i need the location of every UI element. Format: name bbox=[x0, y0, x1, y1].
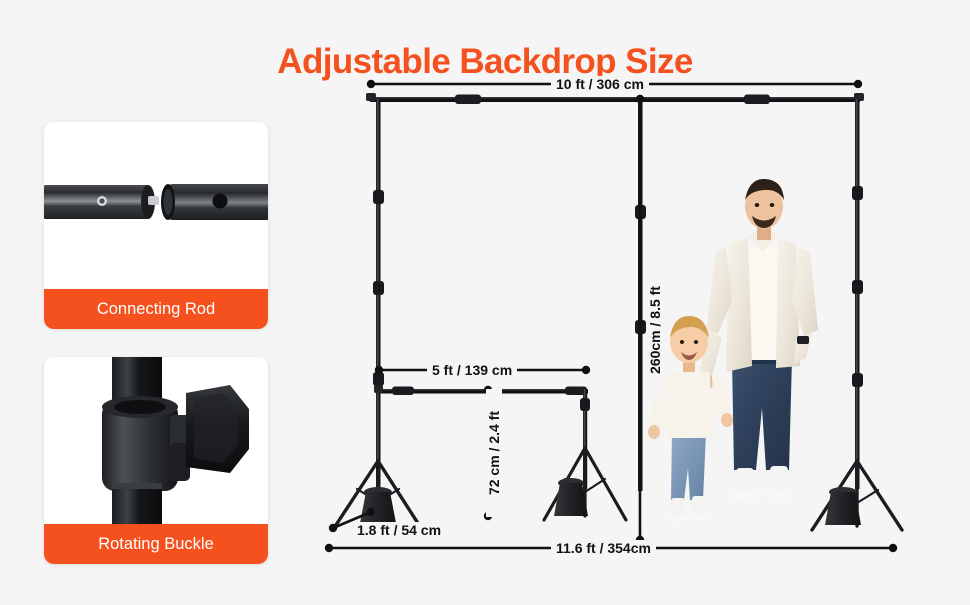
infographic-canvas: Adjustable Backdrop Size bbox=[0, 0, 970, 600]
dimension-label-min-width: 5 ft / 139 cm bbox=[427, 362, 517, 378]
dimension-label-tripod-footprint: 1.8 ft / 54 cm bbox=[352, 522, 446, 538]
backdrop-stand-diagram: 10 ft / 306 cm 260cm / 8.5 ft 5 ft / 139… bbox=[0, 0, 970, 600]
max-size-stand bbox=[334, 93, 902, 530]
dimension-label-min-height: 72 cm / 2.4 ft bbox=[486, 389, 502, 517]
dimension-label-max-height: 260cm / 8.5 ft bbox=[647, 265, 663, 395]
model-adult bbox=[699, 179, 818, 501]
dimension-label-top-width: 10 ft / 306 cm bbox=[551, 76, 649, 92]
dimension-label-overall-width: 11.6 ft / 354cm bbox=[551, 540, 656, 556]
